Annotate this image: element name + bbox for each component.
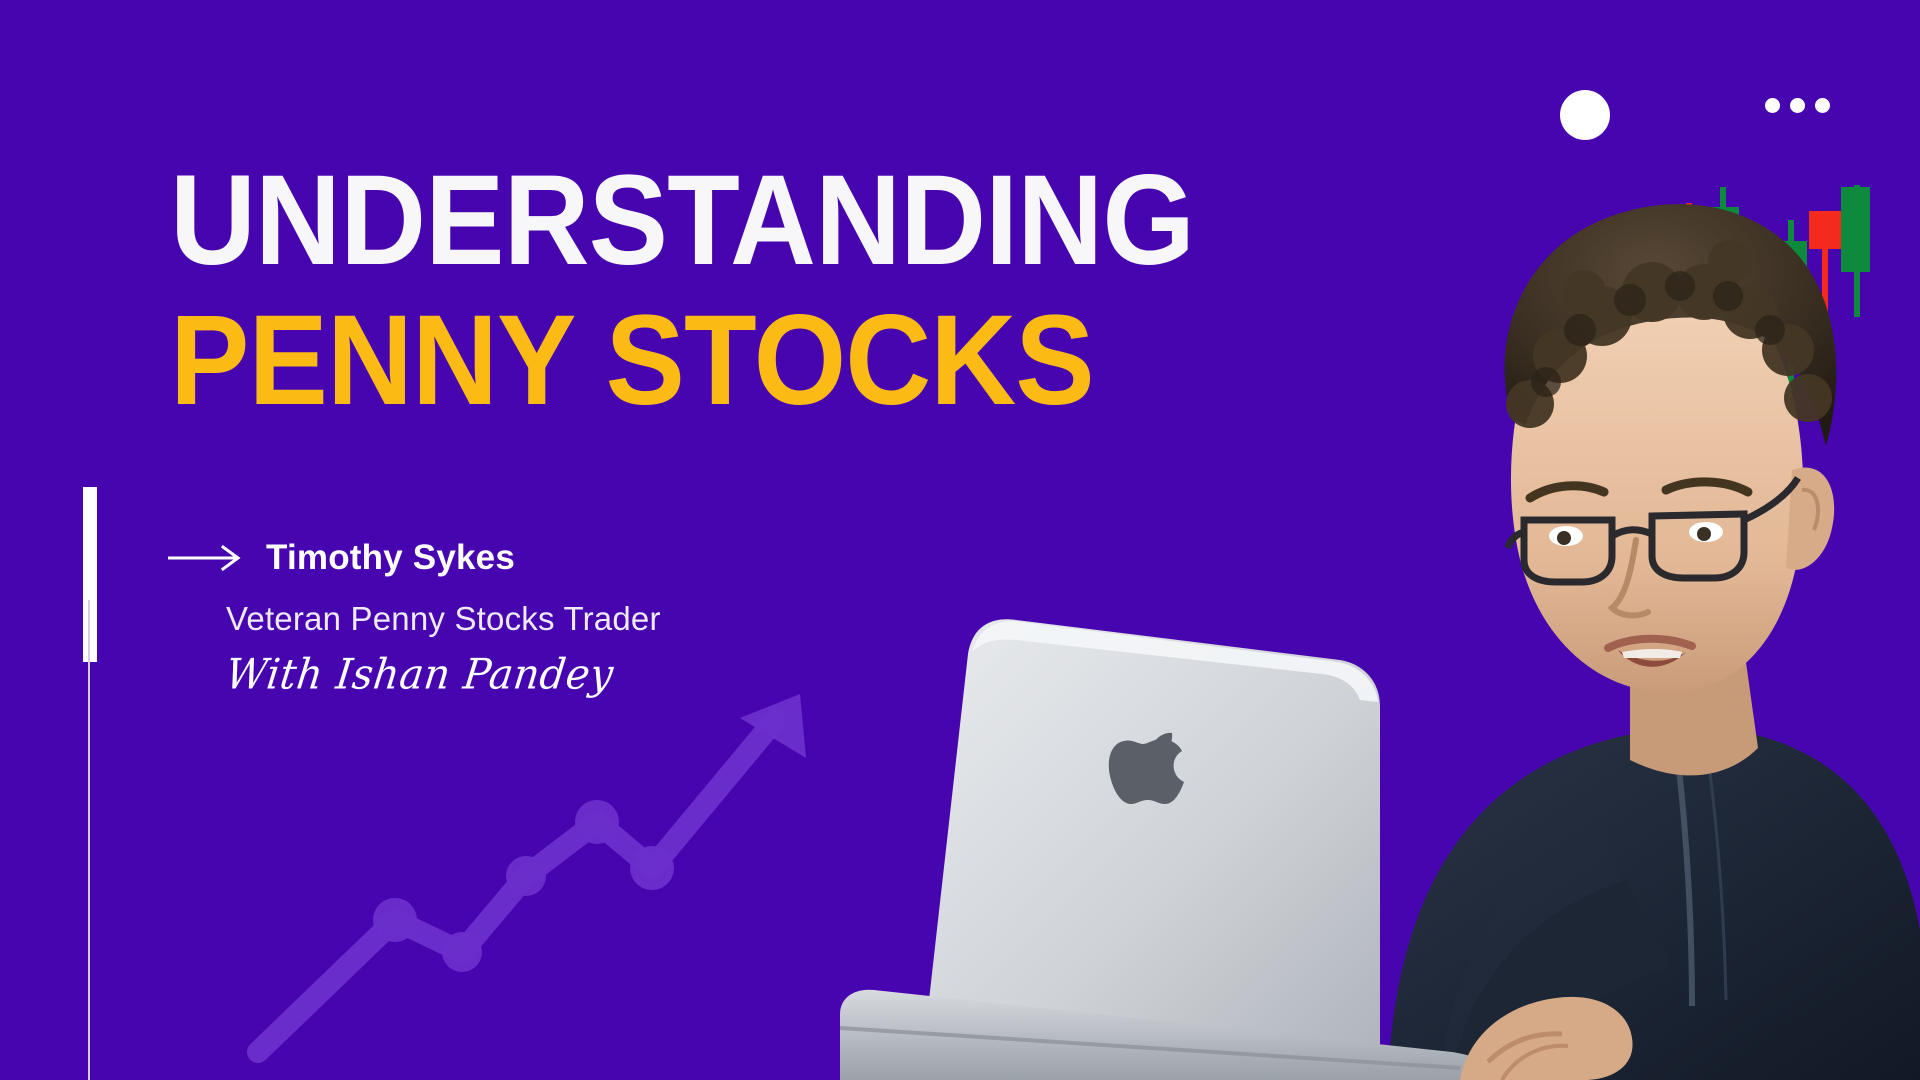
ellipsis-dot-2 bbox=[1790, 98, 1805, 113]
presenter-role: Veteran Penny Stocks Trader bbox=[226, 600, 928, 638]
candle-5 bbox=[1809, 211, 1841, 333]
white-circle-icon bbox=[1560, 90, 1610, 140]
trend-arrowhead bbox=[740, 694, 806, 758]
presenter-with-credit: With Ishan Pandey bbox=[223, 651, 931, 699]
person-neck bbox=[1630, 640, 1758, 775]
trend-node-5 bbox=[630, 846, 674, 890]
long-right-arrow-icon bbox=[168, 545, 244, 571]
page-title: UNDERSTANDING PENNY STOCKS bbox=[170, 160, 1350, 421]
candle-2 bbox=[1707, 187, 1739, 335]
trend-node-2 bbox=[442, 932, 482, 972]
trend-node-3 bbox=[506, 856, 546, 896]
trend-node-1 bbox=[373, 898, 417, 942]
candle-1 bbox=[1673, 203, 1705, 328]
candle-4 bbox=[1775, 220, 1807, 390]
ellipsis-dot-1 bbox=[1765, 98, 1780, 113]
presenter-name: Timothy Sykes bbox=[266, 538, 515, 578]
candle-3 bbox=[1741, 290, 1773, 330]
trend-node-4 bbox=[575, 800, 619, 844]
apple-logo-icon bbox=[1109, 733, 1184, 804]
slide-canvas: UNDERSTANDING PENNY STOCKS Timothy Sykes… bbox=[0, 0, 1920, 1080]
eyeglasses-icon bbox=[1508, 478, 1798, 582]
presenter-row: Timothy Sykes bbox=[168, 538, 928, 578]
candle-6 bbox=[1841, 185, 1870, 317]
headline-line-2: PENNY STOCKS bbox=[170, 300, 1267, 422]
vertical-accent-bar bbox=[83, 487, 97, 662]
upward-trend-arrow-icon bbox=[230, 680, 830, 1080]
ellipsis-icon[interactable] bbox=[1765, 98, 1830, 113]
headline-line-1: UNDERSTANDING bbox=[170, 160, 1267, 282]
vertical-thin-line bbox=[88, 600, 90, 1080]
candlestick-chart-icon bbox=[1658, 185, 1870, 400]
ellipsis-dot-3 bbox=[1815, 98, 1830, 113]
byline-block: Timothy Sykes Veteran Penny Stocks Trade… bbox=[168, 538, 928, 698]
person-hand bbox=[1460, 997, 1633, 1080]
laptop-icon bbox=[840, 619, 1500, 1080]
person-torso bbox=[1388, 560, 1920, 1080]
